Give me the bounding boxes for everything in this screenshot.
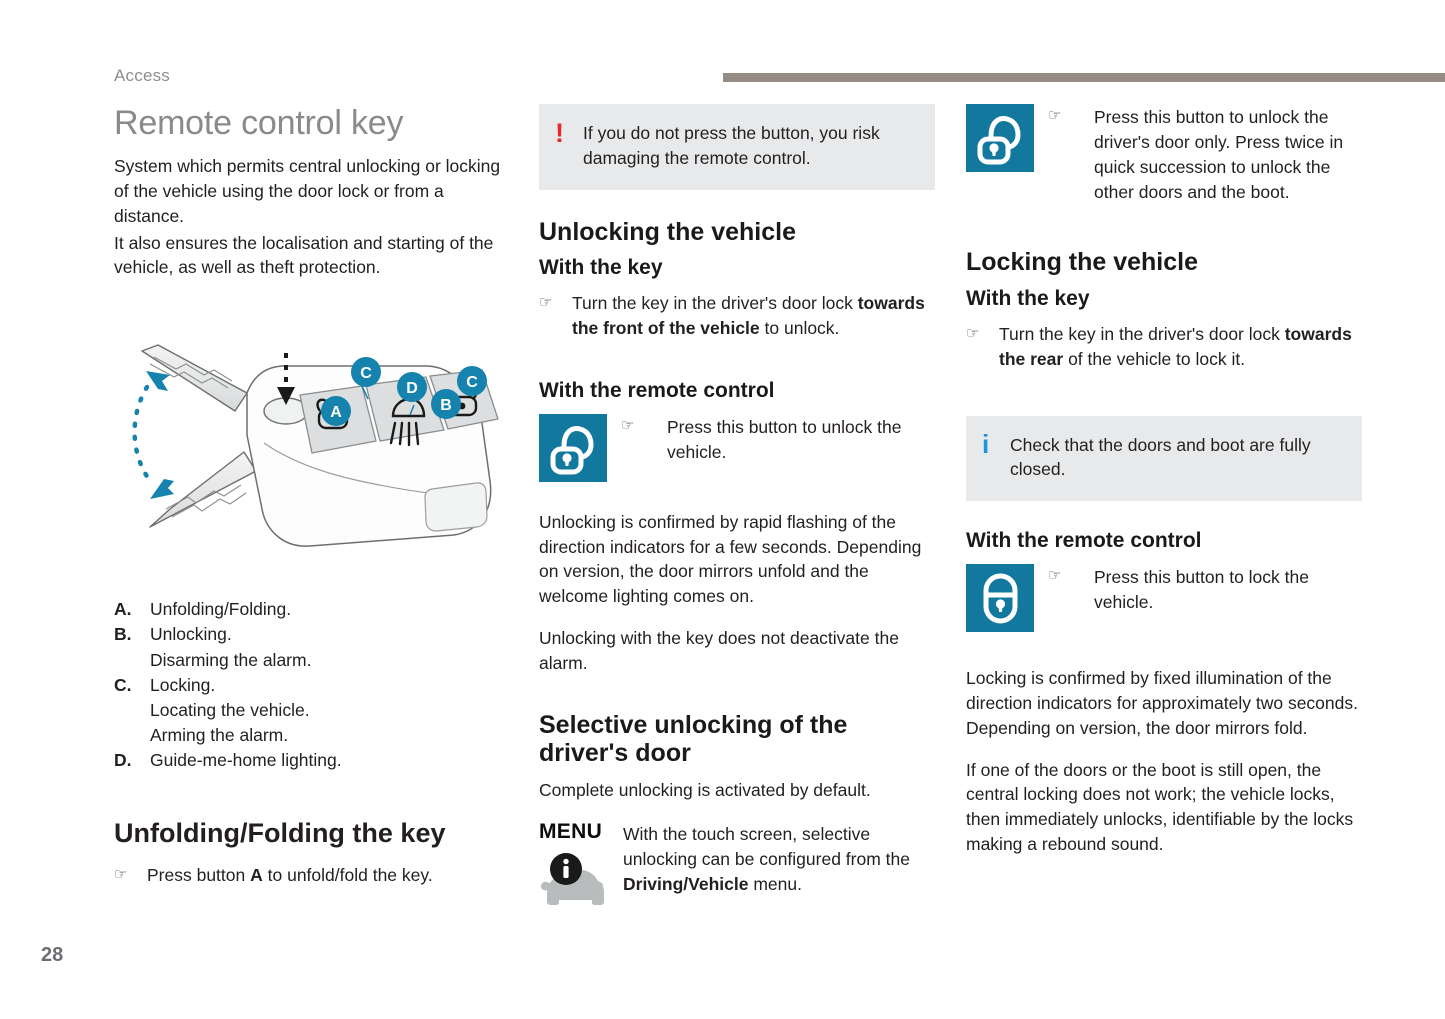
legend-value: Guide-me-home lighting. [150, 748, 507, 773]
heading-unfolding-folding: Unfolding/Folding the key [114, 818, 507, 849]
svg-text:D: D [406, 380, 418, 397]
warning-icon: ! [555, 121, 583, 146]
warning-text: If you do not press the button, you risk… [583, 121, 915, 171]
legend-row: D. Guide-me-home lighting. [114, 748, 507, 773]
unlock-button-instruction: ☞ Press this button to unlock the vehicl… [539, 414, 935, 482]
manual-page: Access 28 Remote control key System whic… [0, 0, 1445, 1019]
menu-instruction: MENU With the touch screen, [539, 820, 935, 915]
instruction-text: Turn the key in the driver's door lock t… [999, 322, 1362, 372]
heading-with-the-remote-control: With the remote control [966, 529, 1362, 554]
menu-icon-group: MENU [539, 820, 623, 915]
remote-control-key-diagram: A C C D B [114, 331, 507, 579]
legend-key: D. [114, 748, 150, 773]
vehicle-info-icon [539, 850, 605, 910]
padlock-open-icon [539, 414, 607, 482]
key-legend-list: A. Unfolding/Folding. B. Unlocking. Disa… [114, 597, 507, 773]
legend-value-extra: Disarming the alarm. [150, 648, 507, 673]
column-middle: ! If you do not press the button, you ri… [539, 104, 935, 915]
svg-text:C: C [466, 374, 478, 391]
heading-with-the-remote-control: With the remote control [539, 379, 935, 404]
instruction-item: ☞ Turn the key in the driver's door lock… [539, 291, 935, 341]
lock-button-instruction: ☞ Press this button to lock the vehicle. [966, 564, 1362, 632]
instruction-text: Turn the key in the driver's door lock t… [572, 291, 935, 341]
legend-value: Unfolding/Folding. [150, 597, 507, 622]
instruction-item: ☞ Press button A to unfold/fold the key. [114, 863, 507, 888]
info-text: Check that the doors and boot are fully … [1010, 433, 1342, 483]
heading-unlocking-the-vehicle: Unlocking the vehicle [539, 218, 935, 247]
legend-value: Unlocking. [150, 622, 507, 647]
intro-paragraph-2: It also ensures the localisation and sta… [114, 231, 507, 281]
running-head: Access [114, 66, 170, 86]
warning-callout: ! If you do not press the button, you ri… [539, 104, 935, 190]
heading-selective-unlocking: Selective unlocking of the driver's door [539, 711, 935, 769]
legend-key: A. [114, 597, 150, 622]
svg-text:C: C [360, 365, 372, 382]
info-callout: i Check that the doors and boot are full… [966, 416, 1362, 502]
legend-row: B. Unlocking. [114, 622, 507, 647]
heading-with-the-key: With the key [539, 256, 935, 281]
instruction-item: ☞ Turn the key in the driver's door lock… [966, 322, 1362, 372]
unlock-driver-door-instruction: ☞ Press this button to unlock the driver… [966, 104, 1362, 204]
unlocking-alarm-paragraph: Unlocking with the key does not deactiva… [539, 626, 935, 676]
hand-pointer-icon: ☞ [1034, 104, 1094, 128]
heading-with-the-key: With the key [966, 287, 1362, 312]
instruction-text: Press this button to lock the vehicle. [1094, 564, 1362, 615]
instruction-text: Press button A to unfold/fold the key. [147, 863, 507, 888]
legend-key: C. [114, 673, 150, 698]
locking-doors-open-paragraph: If one of the doors or the boot is still… [966, 758, 1362, 857]
column-left: Remote control key System which permits … [114, 104, 507, 904]
legend-key: B. [114, 622, 150, 647]
padlock-closed-icon [966, 564, 1034, 632]
instruction-text: Press this button to unlock the vehicle. [667, 414, 935, 465]
svg-text:A: A [330, 404, 342, 421]
selective-unlocking-paragraph: Complete unlocking is activated by defau… [539, 778, 935, 803]
header-rule [723, 73, 1445, 82]
legend-row: C. Locking. [114, 673, 507, 698]
unlocking-confirmation-paragraph: Unlocking is confirmed by rapid flashing… [539, 510, 935, 609]
locking-confirmation-paragraph: Locking is confirmed by fixed illuminati… [966, 666, 1362, 741]
hand-pointer-icon: ☞ [539, 291, 572, 315]
menu-instruction-text: With the touch screen, selective unlocki… [623, 820, 935, 897]
info-icon: i [982, 433, 1010, 457]
legend-value: Locking. [150, 673, 507, 698]
column-right: ☞ Press this button to unlock the driver… [966, 104, 1362, 874]
menu-label: MENU [539, 820, 623, 844]
legend-row: A. Unfolding/Folding. [114, 597, 507, 622]
page-number: 28 [41, 944, 63, 967]
hand-pointer-icon: ☞ [607, 414, 667, 438]
svg-text:B: B [440, 397, 452, 414]
instruction-text: Press this button to unlock the driver's… [1094, 104, 1362, 204]
heading-locking-the-vehicle: Locking the vehicle [966, 248, 1362, 277]
intro-paragraph-1: System which permits central unlocking o… [114, 154, 507, 229]
padlock-open-icon [966, 104, 1034, 172]
hand-pointer-icon: ☞ [1034, 564, 1094, 588]
page-title: Remote control key [114, 104, 507, 142]
hand-pointer-icon: ☞ [966, 322, 999, 346]
legend-value-extra: Arming the alarm. [150, 723, 507, 748]
legend-value-extra: Locating the vehicle. [150, 698, 507, 723]
hand-pointer-icon: ☞ [114, 863, 147, 887]
